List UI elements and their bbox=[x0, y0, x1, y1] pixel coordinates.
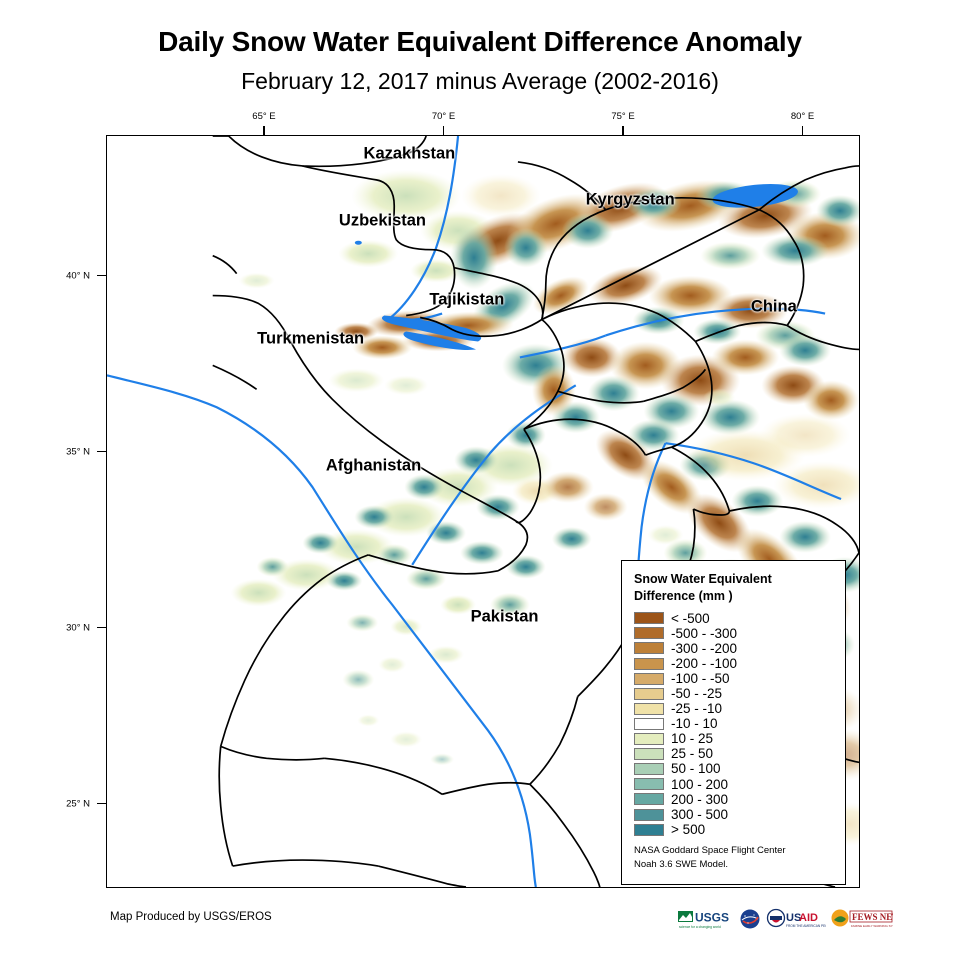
legend-swatch bbox=[634, 627, 664, 639]
legend-label: -25 - -10 bbox=[671, 702, 722, 716]
legend-label: -50 - -25 bbox=[671, 687, 722, 701]
usgs-logo: USGS science for a changing world bbox=[678, 908, 734, 930]
legend-swatch bbox=[634, 824, 664, 836]
x-axis-label: 70° E bbox=[432, 111, 455, 122]
legend-item: -25 - -10 bbox=[634, 701, 835, 716]
nasa-logo bbox=[739, 908, 761, 930]
legend-label: < -500 bbox=[671, 612, 710, 626]
legend-note-line2: Noah 3.6 SWE Model. bbox=[634, 858, 835, 872]
legend-label: -100 - -50 bbox=[671, 672, 730, 686]
legend-label: > 500 bbox=[671, 823, 705, 837]
map-credit: Map Produced by USGS/EROS bbox=[110, 911, 272, 923]
x-axis-tick bbox=[263, 126, 265, 135]
legend-label: -200 - -100 bbox=[671, 657, 737, 671]
y-axis-tick bbox=[97, 803, 106, 805]
legend-item: -100 - -50 bbox=[634, 671, 835, 686]
page-title: Daily Snow Water Equivalent Difference A… bbox=[0, 26, 960, 58]
legend-item: -10 - 10 bbox=[634, 716, 835, 731]
country-label-afghanistan: Afghanistan bbox=[326, 456, 421, 475]
usaid-logo: US AID FROM THE AMERICAN PEOPLE bbox=[766, 908, 826, 930]
legend-swatch bbox=[634, 642, 664, 654]
y-axis-tick bbox=[97, 451, 106, 453]
legend-item: 10 - 25 bbox=[634, 732, 835, 747]
legend-item: 50 - 100 bbox=[634, 762, 835, 777]
legend-item: -300 - -200 bbox=[634, 641, 835, 656]
svg-text:USGS: USGS bbox=[695, 911, 729, 925]
y-axis-tick bbox=[97, 275, 106, 277]
fews-net-logo: FEWS NET FAMINE EARLY WARNING SYSTEMS NE… bbox=[831, 908, 893, 930]
country-label-kyrgyzstan: Kyrgyzstan bbox=[586, 191, 675, 210]
legend-swatch bbox=[634, 748, 664, 760]
legend-swatch bbox=[634, 703, 664, 715]
legend-swatch bbox=[634, 733, 664, 745]
legend-note: NASA Goddard Space Flight Center Noah 3.… bbox=[634, 844, 835, 872]
legend-swatch bbox=[634, 763, 664, 775]
country-label-pakistan: Pakistan bbox=[471, 608, 539, 627]
legend-item: 300 - 500 bbox=[634, 807, 835, 822]
svg-text:FAMINE EARLY WARNING SYSTEMS N: FAMINE EARLY WARNING SYSTEMS NETWORK bbox=[851, 924, 893, 928]
legend-item: -50 - -25 bbox=[634, 686, 835, 701]
x-axis-tick bbox=[622, 126, 624, 135]
legend-title-line1: Snow Water Equivalent bbox=[634, 571, 835, 588]
legend-swatch bbox=[634, 793, 664, 805]
svg-text:science for a changing world: science for a changing world bbox=[679, 925, 721, 929]
legend-swatch bbox=[634, 718, 664, 730]
legend-label: 200 - 300 bbox=[671, 793, 728, 807]
country-label-china: China bbox=[751, 298, 797, 317]
legend-label: 50 - 100 bbox=[671, 762, 721, 776]
legend-swatch bbox=[634, 612, 664, 624]
legend-item: 200 - 300 bbox=[634, 792, 835, 807]
x-axis-label: 65° E bbox=[252, 111, 275, 122]
legend-item: < -500 bbox=[634, 611, 835, 626]
y-axis-label: 25° N bbox=[66, 798, 90, 809]
x-axis-tick bbox=[443, 126, 445, 135]
legend-item: 100 - 200 bbox=[634, 777, 835, 792]
legend-label: 25 - 50 bbox=[671, 747, 713, 761]
country-label-kazakhstan: Kazakhstan bbox=[364, 145, 456, 164]
legend-item: > 500 bbox=[634, 822, 835, 837]
x-axis-label: 80° E bbox=[791, 111, 814, 122]
y-axis-label: 35° N bbox=[66, 446, 90, 457]
svg-text:FROM THE AMERICAN PEOPLE: FROM THE AMERICAN PEOPLE bbox=[786, 924, 826, 928]
legend-label: 100 - 200 bbox=[671, 778, 728, 792]
legend-label: 300 - 500 bbox=[671, 808, 728, 822]
y-axis-label: 40° N bbox=[66, 270, 90, 281]
x-axis-label: 75° E bbox=[611, 111, 634, 122]
legend-swatch bbox=[634, 809, 664, 821]
map-legend: Snow Water Equivalent Difference (mm ) <… bbox=[621, 560, 846, 885]
legend-title: Snow Water Equivalent Difference (mm ) bbox=[634, 571, 835, 605]
legend-label: -500 - -300 bbox=[671, 627, 737, 641]
legend-item: 25 - 50 bbox=[634, 747, 835, 762]
legend-item: -500 - -300 bbox=[634, 626, 835, 641]
legend-item: -200 - -100 bbox=[634, 656, 835, 671]
y-axis-label: 30° N bbox=[66, 622, 90, 633]
logo-strip: USGS science for a changing world US AID… bbox=[678, 908, 893, 930]
legend-label: -300 - -200 bbox=[671, 642, 737, 656]
y-axis-tick bbox=[97, 627, 106, 629]
svg-text:FEWS NET: FEWS NET bbox=[852, 912, 893, 922]
country-label-uzbekistan: Uzbekistan bbox=[339, 212, 426, 231]
country-label-turkmenistan: Turkmenistan bbox=[257, 330, 364, 349]
legend-items: < -500-500 - -300-300 - -200-200 - -100-… bbox=[634, 611, 835, 837]
legend-label: -10 - 10 bbox=[671, 717, 718, 731]
legend-note-line1: NASA Goddard Space Flight Center bbox=[634, 844, 835, 858]
country-label-tajikistan: Tajikistan bbox=[429, 291, 504, 310]
page-subtitle: February 12, 2017 minus Average (2002-20… bbox=[0, 68, 960, 95]
legend-swatch bbox=[634, 658, 664, 670]
legend-title-line2: Difference (mm ) bbox=[634, 588, 835, 605]
legend-label: 10 - 25 bbox=[671, 732, 713, 746]
legend-swatch bbox=[634, 778, 664, 790]
legend-swatch bbox=[634, 673, 664, 685]
svg-text:AID: AID bbox=[799, 912, 818, 924]
x-axis-tick bbox=[802, 126, 804, 135]
legend-swatch bbox=[634, 688, 664, 700]
